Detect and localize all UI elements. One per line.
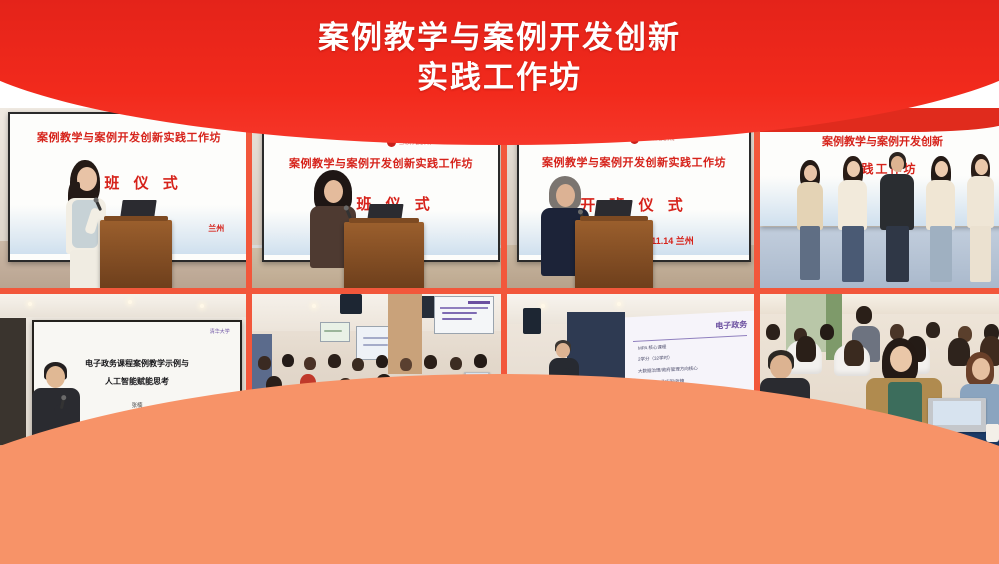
screen-title: 案例教学与案例开发创新 <box>770 136 995 148</box>
screen-title: 案例教学与案例开发创新实践工作坊 <box>273 158 488 170</box>
logo-text: 清华大学 <box>210 328 230 335</box>
screen-title: 案例教学与案例开发创新实践工作坊 <box>528 157 740 169</box>
page-title-line-2: 实践工作坊 <box>0 58 999 98</box>
screen-title: 案例教学与案例开发创新实践工作坊 <box>20 132 239 144</box>
photo-group-photo[interactable]: 案例教学与案例开发创新 实践工作坊 <box>760 108 999 288</box>
slide-bullet-3: 大数据治理/政府管理方向核心 <box>638 366 698 375</box>
screen-date: 11.14 兰州 <box>651 234 694 247</box>
page-title: 案例教学与案例开发创新 实践工作坊 <box>0 18 999 99</box>
slide-bullet-2: 2学分（32学时） <box>638 355 673 363</box>
group-person-5 <box>965 154 997 288</box>
group-person-1 <box>794 160 826 288</box>
group-person-4 <box>924 156 958 288</box>
slide-canvas: 案例教学与案例开发创新 实践工作坊 案例教学与案例开发创新实践工作坊 开 班 仪… <box>0 0 999 564</box>
screen-subtitle: 开 班 仪 式 <box>20 172 239 193</box>
slide-title: 电子政务 <box>715 319 747 332</box>
slide-bullet-1: MPA 核心课程 <box>638 344 666 351</box>
photo-opening-ceremony-host[interactable]: 案例教学与案例开发创新实践工作坊 开 班 仪 式 兰州 <box>0 108 246 288</box>
screen-date: 兰州 <box>208 223 224 234</box>
group-person-2 <box>836 156 870 288</box>
page-title-line-1: 案例教学与案例开发创新 <box>0 18 999 58</box>
group-person-3 <box>878 152 916 288</box>
